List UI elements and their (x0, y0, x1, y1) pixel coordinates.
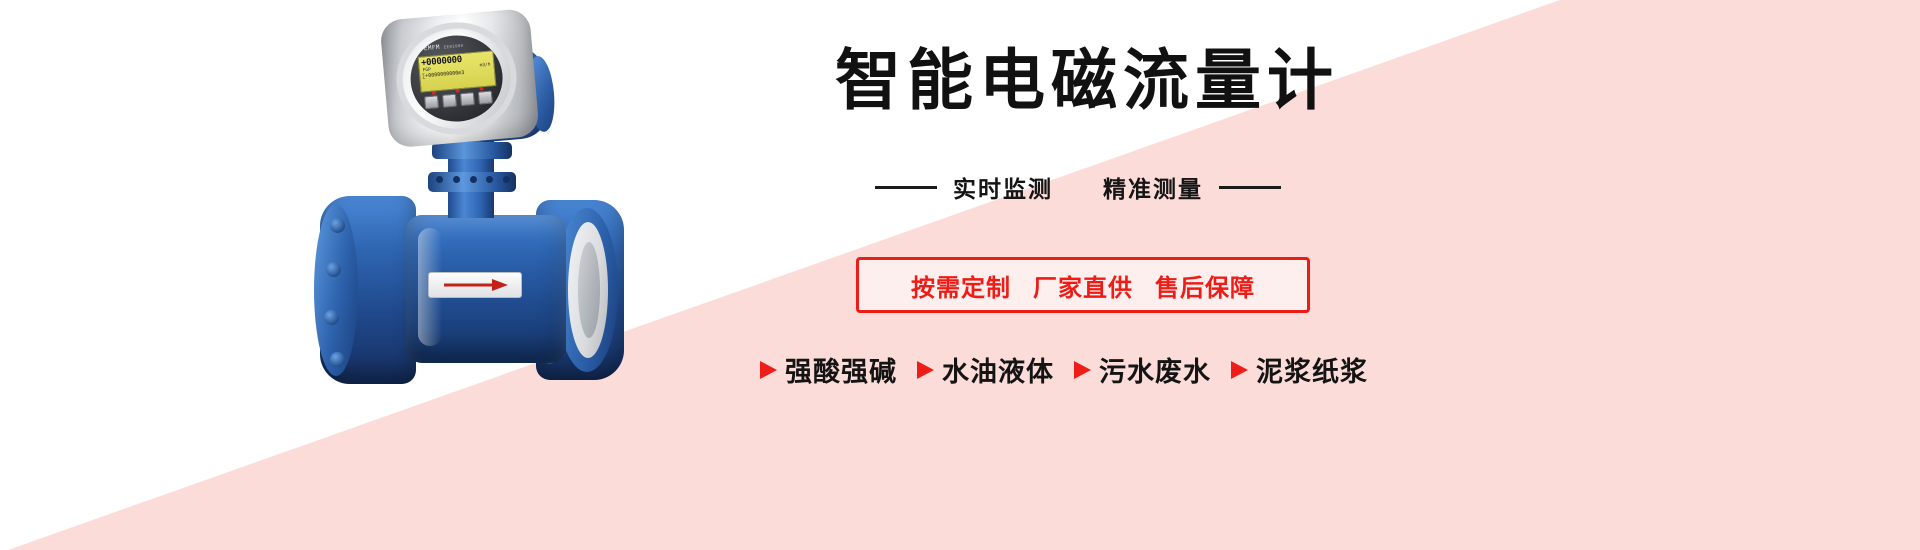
feature-item: 水油液体 (917, 350, 1054, 389)
triangle-bullet-icon (1231, 361, 1248, 379)
product-banner: EMFM EE01000 +0000000 FGP m3/h ∑+0000000… (0, 0, 1920, 550)
page-title: 智能电磁流量计 (835, 48, 1339, 114)
feature-item: 强酸强碱 (760, 350, 897, 389)
feature-label: 强酸强碱 (785, 350, 897, 389)
subtitle-row: 实时监测 精准测量 (838, 170, 1318, 204)
feature-item: 泥浆纸浆 (1231, 350, 1368, 389)
feature-item: 污水废水 (1074, 350, 1211, 389)
promo-item-1: 按需定制 (911, 268, 1011, 303)
feature-list: 强酸强碱 水油液体 污水废水 泥浆纸浆 (760, 350, 1380, 389)
promo-item-2: 厂家直供 (1033, 268, 1133, 303)
subtitle-right: 精准测量 (1103, 170, 1203, 204)
subtitle-rule-left (875, 186, 937, 189)
subtitle-left: 实时监测 (953, 170, 1053, 204)
feature-label: 污水废水 (1099, 350, 1211, 389)
banner-copy: 智能电磁流量计 实时监测 精准测量 按需定制 厂家直供 售后保障 强酸强碱 水油… (0, 0, 1920, 550)
feature-label: 泥浆纸浆 (1256, 350, 1368, 389)
triangle-bullet-icon (917, 361, 934, 379)
triangle-bullet-icon (760, 361, 777, 379)
feature-label: 水油液体 (942, 350, 1054, 389)
subtitle-rule-right (1219, 186, 1281, 189)
promo-badge: 按需定制 厂家直供 售后保障 (856, 257, 1310, 313)
promo-item-3: 售后保障 (1155, 268, 1255, 303)
triangle-bullet-icon (1074, 361, 1091, 379)
